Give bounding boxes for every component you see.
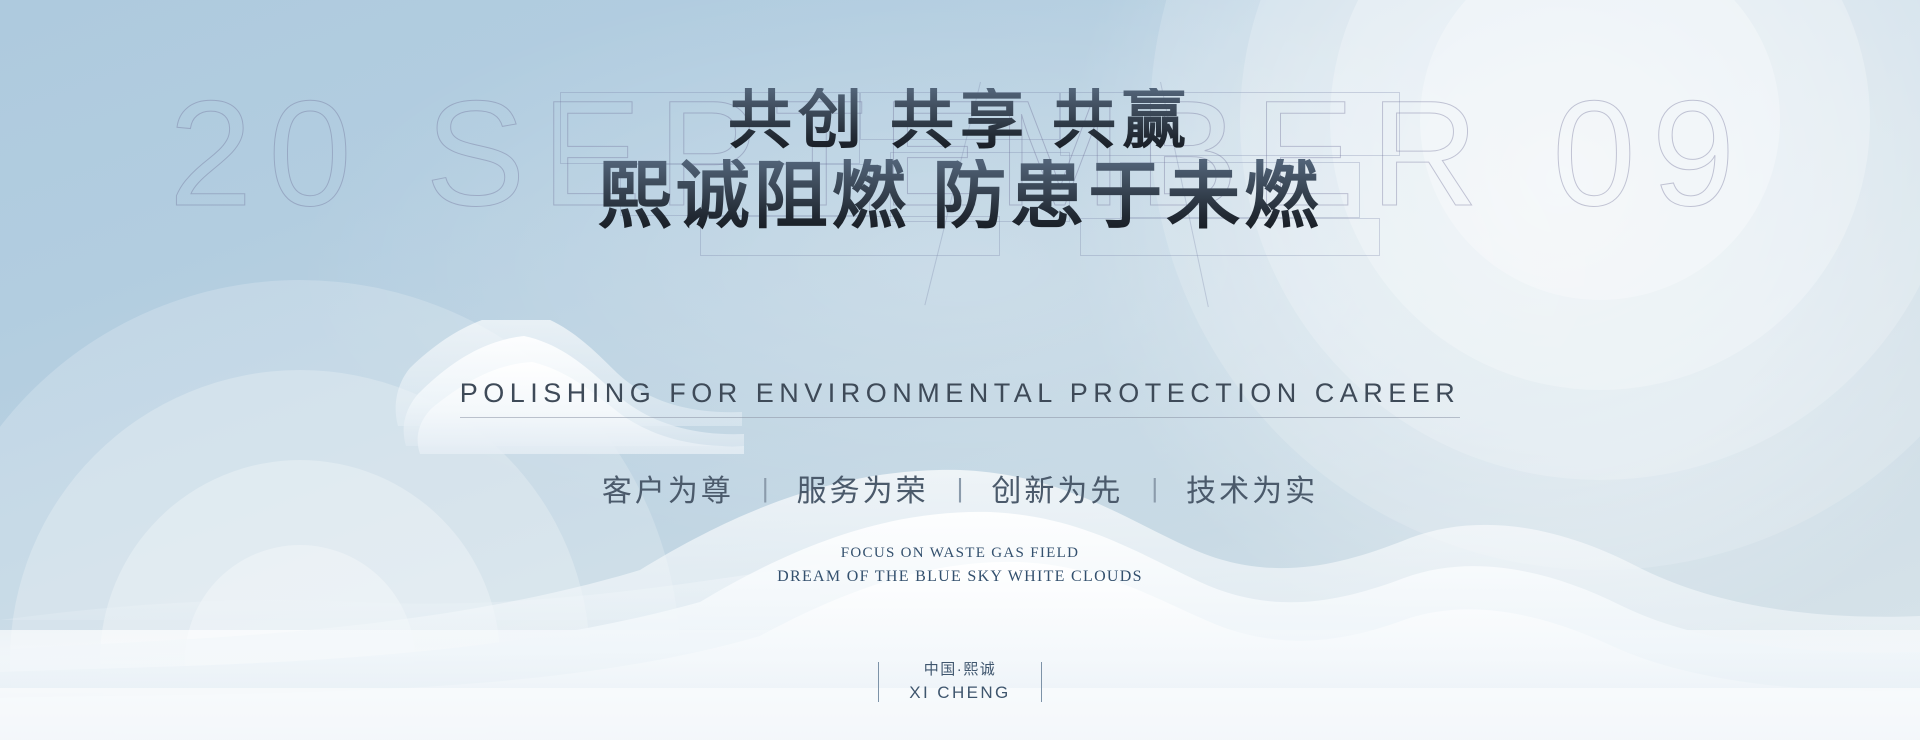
brand-name-en: XI CHENG bbox=[909, 683, 1010, 702]
brand-rule-left bbox=[878, 662, 880, 702]
headline-line-2: 熙诚阻燃 防患于未燃 bbox=[0, 159, 1920, 236]
tagline-block: POLISHING FOR ENVIRONMENTAL PROTECTION C… bbox=[0, 378, 1920, 418]
subline-block: FOCUS ON WASTE GAS FIELD DREAM OF THE BL… bbox=[0, 543, 1920, 588]
brand-text: 中国·熙诚 XI CHENG bbox=[909, 659, 1010, 706]
values-row: 客户为尊 | 服务为荣 | 创新为先 | 技术为实 bbox=[0, 466, 1920, 510]
tagline-text: POLISHING FOR ENVIRONMENTAL PROTECTION C… bbox=[460, 378, 1461, 418]
value-separator: | bbox=[929, 473, 992, 504]
value-separator: | bbox=[1123, 473, 1186, 504]
subline-line-2: DREAM OF THE BLUE SKY WHITE CLOUDS bbox=[0, 565, 1920, 588]
cloud-front bbox=[0, 562, 1920, 740]
brand-rule-right bbox=[1041, 662, 1043, 702]
promo-banner: 20 SEPTEMBER 09 共创 共享 共赢 熙诚阻燃 防患于未燃 POLI… bbox=[0, 0, 1920, 740]
headline-line-1: 共创 共享 共赢 bbox=[0, 88, 1920, 155]
value-item-1: 客户为尊 bbox=[602, 466, 734, 510]
brand-lockup: 中国·熙诚 XI CHENG bbox=[0, 659, 1920, 706]
value-item-3: 创新为先 bbox=[991, 466, 1123, 510]
headline-block: 共创 共享 共赢 熙诚阻燃 防患于未燃 bbox=[0, 88, 1920, 236]
value-separator: | bbox=[734, 473, 797, 504]
value-item-2: 服务为荣 bbox=[797, 466, 929, 510]
value-item-4: 技术为实 bbox=[1186, 466, 1318, 510]
subline-line-1: FOCUS ON WASTE GAS FIELD bbox=[0, 543, 1920, 565]
brand-name-cn: 中国·熙诚 bbox=[924, 661, 997, 678]
